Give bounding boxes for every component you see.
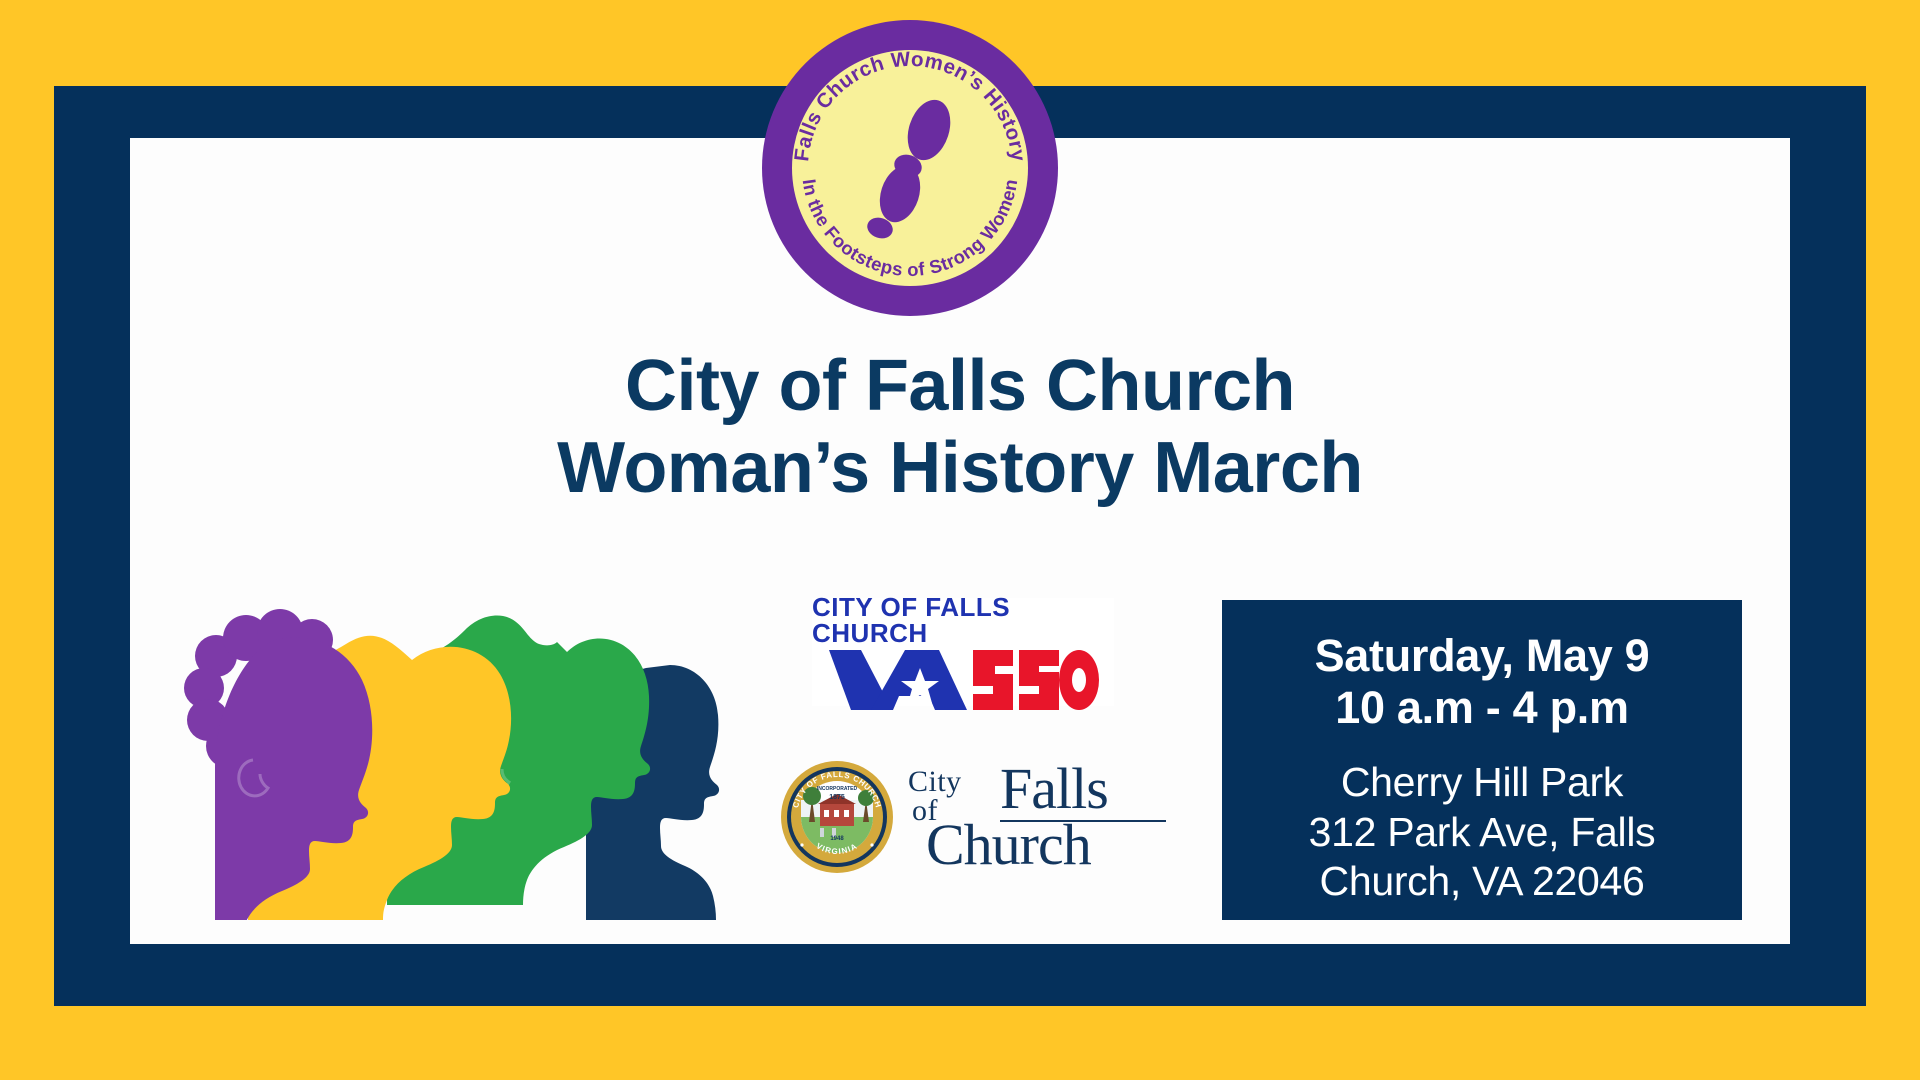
page-title-line-1: City of Falls Church <box>130 345 1790 427</box>
page-title-line-2: Woman’s History March <box>130 427 1790 509</box>
wordmark-church: Church <box>926 816 1091 874</box>
va250-mark <box>827 648 1099 710</box>
va250-logo: CITY OF FALLS CHURCH <box>812 598 1114 706</box>
va250-top-text: CITY OF FALLS CHURCH <box>812 594 1114 646</box>
page-title: City of Falls Church Woman’s History Mar… <box>130 345 1790 509</box>
event-where: Cherry Hill Park 312 Park Ave, Falls Chu… <box>1222 758 1742 906</box>
city-seal-icon: INCORPORATED 1875 1948 CITY OF FALLS CHU… <box>780 760 894 874</box>
event-when: Saturday, May 9 10 a.m - 4 p.m <box>1222 630 1742 734</box>
va250-digit-5 <box>1019 650 1059 710</box>
event-time: 10 a.m - 4 p.m <box>1222 682 1742 734</box>
va250-digit-0 <box>1059 650 1099 710</box>
event-address-line-2: Church, VA 22046 <box>1222 857 1742 906</box>
seal-year-1875: 1875 <box>829 794 845 801</box>
women-profile-silhouettes <box>150 590 750 920</box>
falls-church-womens-history-badge: Falls Church Women’s History In the Foot… <box>760 18 1060 318</box>
city-of-falls-church-logo: INCORPORATED 1875 1948 CITY OF FALLS CHU… <box>780 752 1170 882</box>
wordmark-city: City <box>908 768 962 797</box>
event-address-line-1: 312 Park Ave, Falls <box>1222 808 1742 857</box>
event-venue: Cherry Hill Park <box>1222 758 1742 807</box>
wordmark-falls: Falls <box>1000 760 1108 818</box>
event-poster: Falls Church Women’s History In the Foot… <box>0 0 1920 1080</box>
city-of-falls-church-wordmark: City of Falls Church <box>908 758 1166 876</box>
event-date: Saturday, May 9 <box>1222 630 1742 682</box>
seal-year-1948: 1948 <box>830 836 844 842</box>
seal-incorporated-text: INCORPORATED <box>817 786 858 792</box>
event-details-box: Saturday, May 9 10 a.m - 4 p.m Cherry Hi… <box>1222 600 1742 920</box>
va250-digit-2 <box>973 650 1013 710</box>
